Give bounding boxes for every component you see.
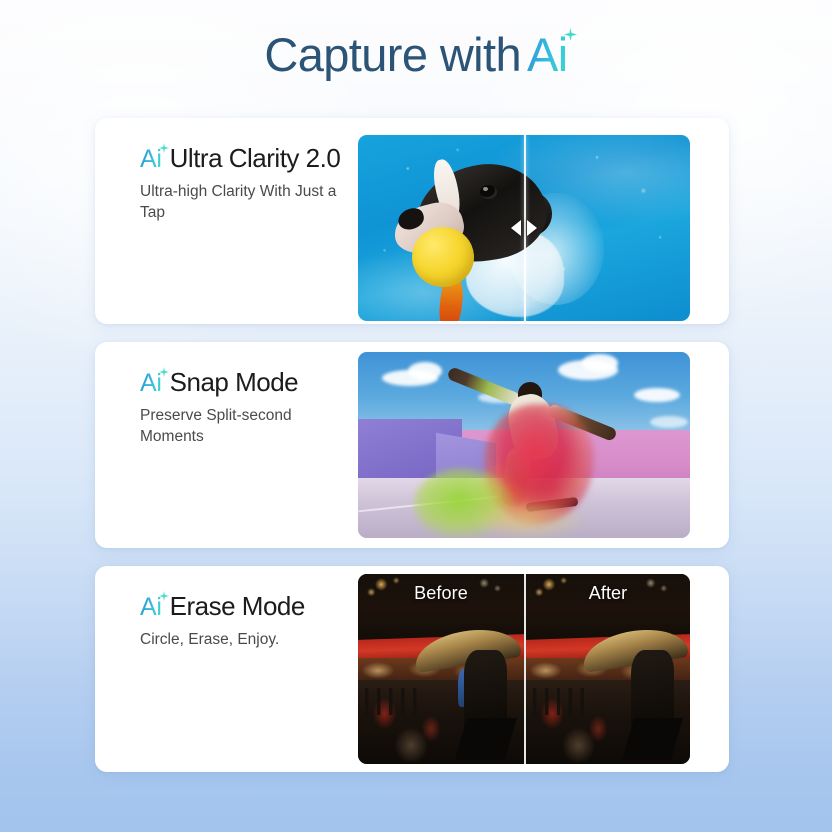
bicycle-rack [533, 688, 618, 715]
sparkle-icon [159, 143, 169, 153]
ai-badge-icon: Ai [140, 371, 162, 396]
page-title-ai-badge: Ai [527, 26, 568, 85]
comparison-slider-handle[interactable] [511, 220, 537, 236]
chevron-right-icon[interactable] [527, 220, 537, 236]
card-title: Snap Mode [170, 369, 298, 396]
page-background: Capture withAi Ai Ultra Clarity 2.0 Ultr… [0, 0, 832, 832]
cloud [634, 388, 680, 402]
sparkle-icon [159, 367, 169, 377]
card-text-block: Ai Erase Mode Circle, Erase, Enjoy. [95, 566, 358, 651]
ai-badge-icon: Ai [140, 147, 162, 172]
feature-card-snap-mode[interactable]: Ai Snap Mode Preserve Split-second Momen… [95, 342, 729, 548]
dog-eye [480, 185, 497, 199]
photo-street-before-after: Before After [358, 574, 690, 764]
before-label: Before [414, 583, 468, 604]
after-label: After [589, 583, 628, 604]
photo-skater-color-powder [358, 352, 690, 538]
card-title-row: Ai Ultra Clarity 2.0 [140, 145, 348, 172]
chevron-left-icon[interactable] [511, 220, 521, 236]
cloud [582, 354, 618, 372]
before-pane: Before [358, 574, 524, 764]
page-header: Capture withAi [0, 26, 832, 85]
card-text-block: Ai Snap Mode Preserve Split-second Momen… [95, 342, 358, 448]
card-subtitle: Ultra-high Clarity With Just a Tap [140, 182, 340, 224]
feature-card-ultra-clarity[interactable]: Ai Ultra Clarity 2.0 Ultra-high Clarity … [95, 118, 729, 324]
cloud [408, 362, 442, 380]
page-title: Capture withAi [264, 26, 567, 85]
card-subtitle: Circle, Erase, Enjoy. [140, 630, 340, 651]
yellow-ball [412, 227, 474, 287]
card-title: Ultra Clarity 2.0 [170, 145, 341, 172]
feature-card-erase-mode[interactable]: Ai Erase Mode Circle, Erase, Enjoy. [95, 566, 729, 772]
page-title-text: Capture with [264, 28, 521, 81]
powder-burst-yellow [468, 504, 588, 538]
card-subtitle: Preserve Split-second Moments [140, 406, 340, 448]
card-text-block: Ai Ultra Clarity 2.0 Ultra-high Clarity … [95, 118, 358, 224]
sparkle-icon [564, 28, 577, 41]
card-title: Erase Mode [170, 593, 305, 620]
card-media-ultra-clarity[interactable] [358, 135, 690, 321]
after-pane: After [524, 574, 690, 764]
sparkle-icon [159, 591, 169, 601]
page-title-ai-text: Ai [527, 28, 568, 81]
card-title-row: Ai Snap Mode [140, 369, 348, 396]
card-media-snap-mode[interactable] [358, 352, 690, 538]
ai-badge-icon: Ai [140, 595, 162, 620]
card-title-row: Ai Erase Mode [140, 593, 348, 620]
card-media-erase-mode[interactable]: Before After [358, 574, 690, 764]
cloud [650, 416, 688, 428]
feature-card-list: Ai Ultra Clarity 2.0 Ultra-high Clarity … [95, 118, 729, 772]
bicycle-rack [365, 688, 451, 715]
